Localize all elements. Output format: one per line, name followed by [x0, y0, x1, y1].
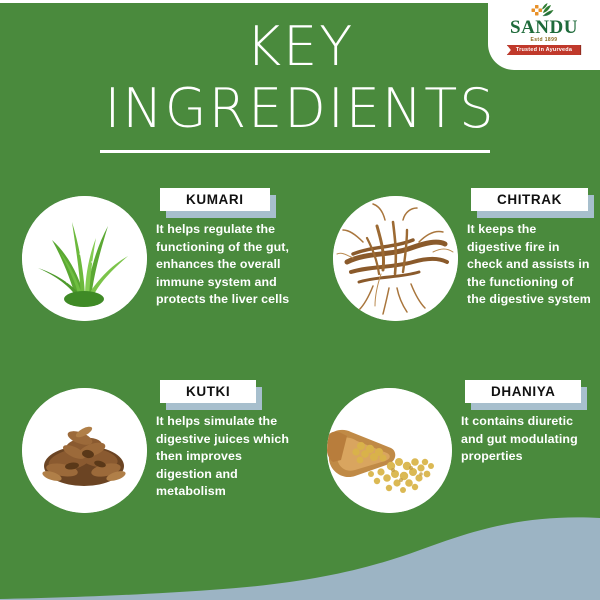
title-underline-rule [100, 150, 490, 153]
brand-logo: SANDU Estd 1899 Trusted in Ayurveda [488, 0, 600, 70]
infographic-poster: SANDU Estd 1899 Trusted in Ayurveda KEY … [0, 0, 600, 600]
chitrak-dried-roots-image [333, 196, 458, 321]
aloe-vera-plant-image [22, 196, 147, 321]
ingredient-card-body: KUMARI It helps regulate the functioning… [156, 188, 322, 309]
ingredient-description-chitrak: It keeps the digestive fire in check and… [467, 221, 592, 309]
ingredient-name-kumari: KUMARI [160, 188, 270, 211]
ingredient-name-banner: DHANIYA [465, 380, 581, 403]
ingredient-description-dhaniya: It contains diuretic and gut modulating … [461, 413, 586, 466]
brand-wordmark: SANDU [510, 18, 578, 37]
brand-tagline-ribbon: Trusted in Ayurveda [507, 45, 581, 55]
ingredient-name-chitrak: CHITRAK [471, 188, 588, 211]
ingredient-name-banner: KUTKI [160, 380, 256, 403]
brand-wordmark-text: SANDU [510, 17, 578, 38]
ingredient-card-body: KUTKI It helps simulate the digestive ju… [156, 380, 322, 501]
ingredient-name-dhaniya: DHANIYA [465, 380, 581, 403]
kutki-dried-roots-image [22, 388, 147, 513]
ingredient-card-body: CHITRAK It keeps the digestive fire in c… [467, 188, 595, 309]
ingredient-card-body: DHANIYA It contains diuretic and gut mod… [461, 380, 595, 466]
page-title-line-2: INGREDIENTS [0, 78, 600, 140]
ingredient-name-banner: CHITRAK [471, 188, 588, 211]
ingredient-name-kutki: KUTKI [160, 380, 256, 403]
top-white-strip [0, 0, 600, 3]
ingredient-description-kutki: It helps simulate the digestive juices w… [156, 413, 296, 501]
ingredient-description-kumari: It helps regulate the functioning of the… [156, 221, 316, 309]
brand-established: Estd 1899 [531, 37, 558, 43]
ayurveda-leaf-emblem-icon [529, 3, 559, 19]
ingredient-name-banner: KUMARI [160, 188, 270, 211]
coriander-seeds-scoop-image [327, 388, 452, 513]
